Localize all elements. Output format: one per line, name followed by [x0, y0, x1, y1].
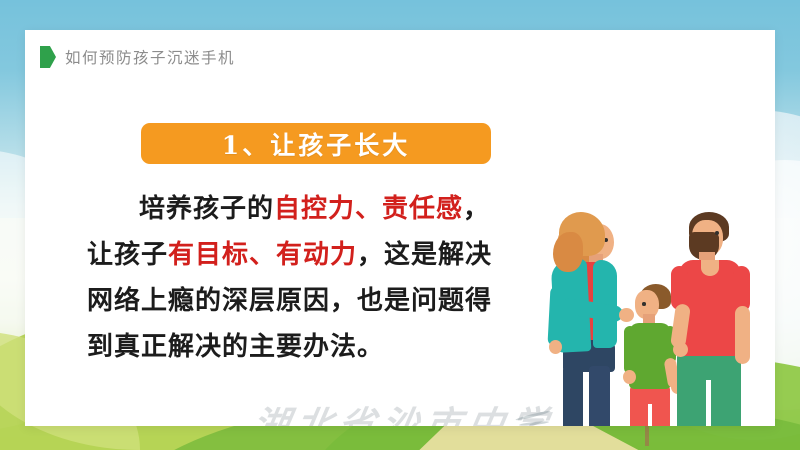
body-highlight-text: 有目标、有动力: [168, 240, 357, 270]
content-card: 如何预防孩子沉迷手机 1、让孩子长大 培养孩子的自控力、责任感， 让孩子有目标、…: [25, 30, 775, 426]
slide-canvas: 如何预防孩子沉迷手机 1、让孩子长大 培养孩子的自控力、责任感， 让孩子有目标、…: [0, 0, 800, 450]
body-plain-text: 网络上瘾的深层原因，也是问题得: [87, 286, 492, 316]
green-pentagon-arrow-icon: [40, 46, 56, 68]
body-plain-text: 培养孩子的: [139, 194, 274, 224]
body-plain-text: 让孩子: [87, 240, 168, 270]
slide-header: 如何预防孩子沉迷手机: [40, 46, 235, 68]
body-plain-text: ，这是解决: [357, 240, 492, 270]
body-line-2: 让孩子有目标、有动力，这是解决: [87, 232, 517, 278]
body-line-1: 培养孩子的自控力、责任感，: [87, 186, 517, 232]
body-paragraph: 培养孩子的自控力、责任感， 让孩子有目标、有动力，这是解决 网络上瘾的深层原因，…: [87, 186, 517, 370]
body-plain-text: ，: [463, 194, 490, 224]
body-plain-text: 到真正解决的主要办法。: [87, 332, 384, 362]
family-holding-hands-illustration: [525, 198, 775, 426]
section-banner: 1、让孩子长大: [141, 123, 491, 164]
body-line-3: 网络上瘾的深层原因，也是问题得: [87, 278, 517, 324]
body-line-4: 到真正解决的主要办法。: [87, 324, 517, 370]
body-highlight-text: 自控力、责任感: [274, 194, 463, 224]
header-title: 如何预防孩子沉迷手机: [65, 46, 235, 68]
section-banner-label: 1、让孩子长大: [222, 126, 410, 162]
fence-post: [645, 424, 649, 446]
